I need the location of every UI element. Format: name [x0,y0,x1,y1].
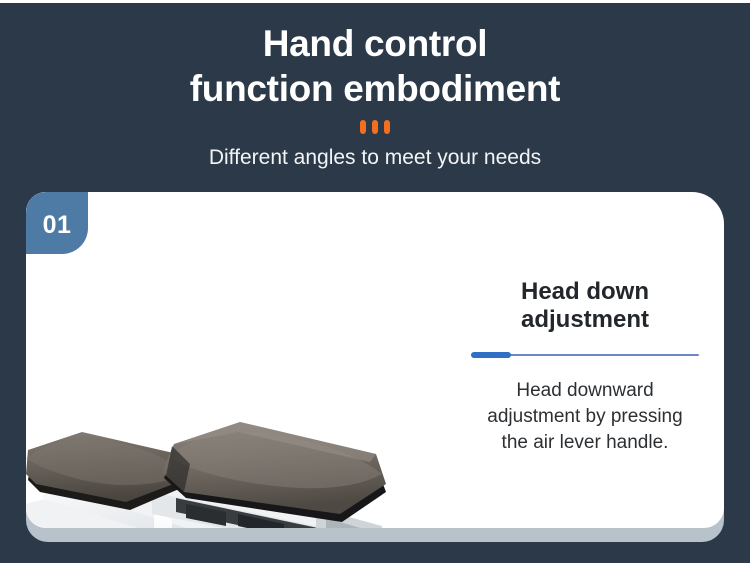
product-photo-illustration [26,192,446,528]
vertical-bar-icon [372,120,378,134]
heading-divider [471,352,699,358]
feature-body-text: Head downward adjustment by pressing the… [464,378,706,456]
feature-card: 0~-34° Head down adjustment Head downwar… [26,192,724,528]
feature-heading: Head down adjustment [464,278,706,334]
page-root: Hand control function embodiment Differe… [0,0,750,563]
header: Hand control function embodiment Differe… [0,3,750,186]
step-number-badge: 01 [26,192,88,254]
vertical-bar-icon [360,120,366,134]
feature-body-line-2: adjustment by pressing [487,406,682,427]
step-number-label: 01 [26,192,88,254]
page-subtitle: Different angles to meet your needs [0,145,750,171]
divider-accent [471,352,511,358]
dot-separator [0,120,750,134]
feature-body-line-1: Head downward [516,380,653,401]
feature-body-line-3: the air lever handle. [502,432,669,453]
page-title-line-2: function embodiment [0,66,750,111]
feature-heading-line-1: Head down [521,278,649,305]
page-title-line-1: Hand control [263,23,488,64]
vertical-bar-icon [384,120,390,134]
feature-heading-line-2: adjustment [521,306,649,333]
product-photo: 0~-34° [26,192,446,528]
page-title: Hand control function embodiment [0,21,750,111]
feature-text-panel: Head down adjustment Head downward adjus… [446,192,724,528]
